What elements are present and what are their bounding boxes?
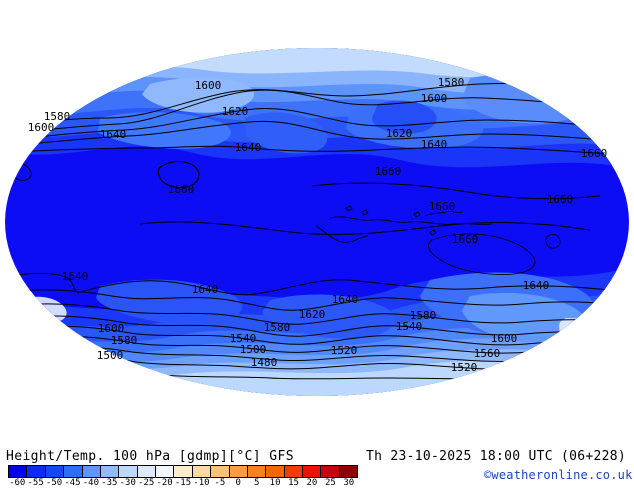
- colorbar-tick-label: -15: [175, 478, 191, 488]
- contour-label: 1660: [429, 200, 456, 213]
- colorbar-swatch: [119, 466, 137, 477]
- colorbar-tick-label: 15: [288, 478, 299, 488]
- colorbar-tick-label: 20: [307, 478, 318, 488]
- contour-label: 1620: [386, 127, 413, 140]
- colorbar-tick-label: -25: [138, 478, 154, 488]
- contour-label: 1520: [331, 344, 358, 357]
- colorbar-swatch: [138, 466, 156, 477]
- colorbar-swatch: [156, 466, 174, 477]
- contour-label: 1640: [192, 283, 219, 296]
- colorbar-swatch: [46, 466, 64, 477]
- colorbar-tick-label: -20: [156, 478, 172, 488]
- contour-label: 1660: [581, 147, 608, 160]
- colorbar-swatch: [193, 466, 211, 477]
- colorbar-tick-label: -10: [193, 478, 209, 488]
- colorbar-tick-label: -5: [214, 478, 225, 488]
- colorbar-swatch: [285, 466, 303, 477]
- contour-label: 1620: [222, 105, 249, 118]
- colorbar-swatch: [266, 466, 284, 477]
- colorbar-swatch: [211, 466, 229, 477]
- colorbar-tick-label: 0: [236, 478, 241, 488]
- colorbar-tick-label: 30: [343, 478, 354, 488]
- contour-label: 1500: [97, 349, 124, 362]
- colorbar-swatch: [303, 466, 321, 477]
- colorbar-tick-label: -60: [9, 478, 25, 488]
- colorbar-swatch: [174, 466, 192, 477]
- colorbar-tick-label: 10: [270, 478, 281, 488]
- colorbar-swatch: [340, 466, 357, 477]
- colorbar-tick-label: -50: [46, 478, 62, 488]
- contour-label: 1500: [240, 343, 267, 356]
- colorbar-tick-label: 25: [325, 478, 336, 488]
- map-title: Height/Temp. 100 hPa [gdmp][°C] GFS: [6, 449, 294, 464]
- contour-label: 1640: [100, 128, 127, 141]
- temperature-colorbar[interactable]: -60-55-50-45-40-35-30-25-20-15-10-505101…: [8, 465, 358, 489]
- contour-label: 1580: [111, 334, 138, 347]
- colorbar-swatches[interactable]: [8, 465, 358, 478]
- contour-label: 1640: [332, 293, 359, 306]
- colorbar-tick-label: 5: [254, 478, 259, 488]
- weather-map-panel[interactable]: 1600 1580 1600 1620 1640 1640 1660 1580 …: [0, 0, 634, 436]
- colorbar-tick-label: -40: [83, 478, 99, 488]
- copyright-credit-link[interactable]: ©weatheronline.co.uk: [484, 468, 633, 482]
- contour-label: 1580: [438, 76, 465, 89]
- contour-label: 1660: [547, 193, 574, 206]
- contour-label: 1660: [168, 183, 195, 196]
- contour-label: 1600: [421, 92, 448, 105]
- colorbar-swatch: [101, 466, 119, 477]
- colorbar-swatch: [27, 466, 45, 477]
- contour-label: 1640: [235, 141, 262, 154]
- colorbar-swatch: [83, 466, 101, 477]
- map-valid-time: Th 23-10-2025 18:00 UTC (06+228): [366, 449, 626, 464]
- map-footer: Height/Temp. 100 hPa [gdmp][°C] GFS Th 2…: [0, 436, 634, 490]
- colorbar-swatch: [321, 466, 339, 477]
- contour-label: 1580: [264, 321, 291, 334]
- contour-label: 1640: [421, 138, 448, 151]
- colorbar-swatch: [248, 466, 266, 477]
- colorbar-swatch: [9, 466, 27, 477]
- contour-label: 1540: [396, 320, 423, 333]
- contour-label: 1660: [375, 165, 402, 178]
- contour-label: 1660: [452, 233, 479, 246]
- contour-label: 1520: [451, 361, 478, 374]
- colorbar-tick-label: -55: [27, 478, 43, 488]
- contour-label: 1600: [28, 121, 55, 134]
- contour-label: 1480: [251, 356, 278, 369]
- contour-label: 1640: [62, 270, 89, 283]
- colorbar-tick-label: -30: [120, 478, 136, 488]
- contour-label: 1560: [474, 347, 501, 360]
- weather-map-canvas[interactable]: 1600 1580 1600 1620 1640 1640 1660 1580 …: [0, 0, 634, 436]
- colorbar-swatch: [230, 466, 248, 477]
- contour-label: 1600: [491, 332, 518, 345]
- colorbar-tick-label: -35: [101, 478, 117, 488]
- colorbar-tick-label: -45: [64, 478, 80, 488]
- contour-label: 1640: [523, 279, 550, 292]
- colorbar-tick-labels: -60-55-50-45-40-35-30-25-20-15-10-505101…: [8, 478, 358, 489]
- contour-label: 1620: [299, 308, 326, 321]
- contour-label: 1600: [195, 79, 222, 92]
- colorbar-swatch: [64, 466, 82, 477]
